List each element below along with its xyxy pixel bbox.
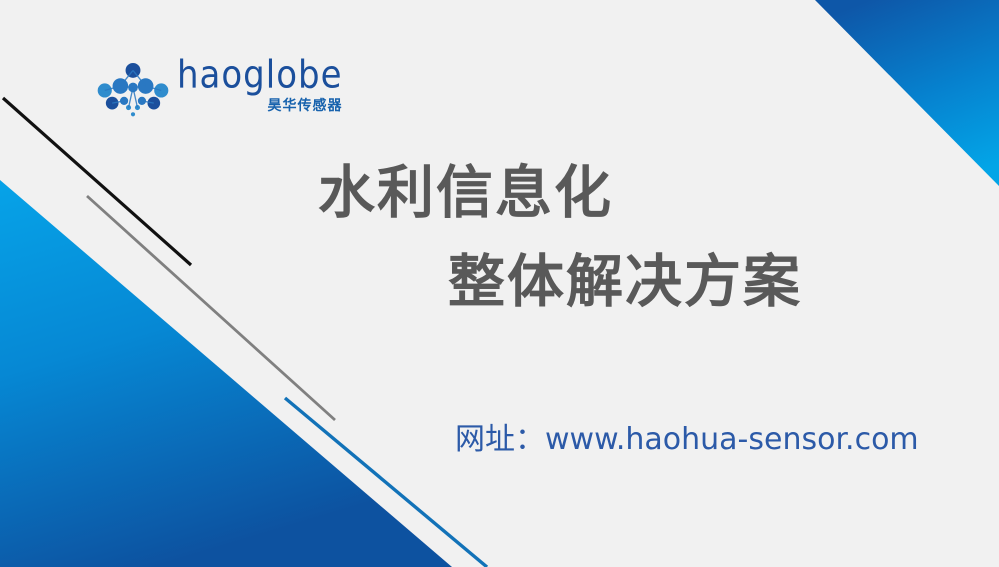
slide-title: 水利信息化 整体解决方案 xyxy=(0,160,999,315)
website-url[interactable]: www.haohua-sensor.com xyxy=(545,422,919,457)
website-line: 网址：www.haohua-sensor.com xyxy=(455,421,919,459)
title-line-2: 整体解决方案 xyxy=(0,249,999,315)
slide-canvas: haoglobe 昊华传感器 水利信息化 整体解决方案 网址：www.haohu… xyxy=(0,0,999,567)
top-right-blue-triangle xyxy=(815,0,999,186)
logo-wordmark: haoglobe xyxy=(177,56,343,94)
title-line-1: 水利信息化 xyxy=(0,160,999,226)
website-label: 网址： xyxy=(455,422,545,457)
haoglobe-dots-cluster-logo-icon xyxy=(97,60,169,118)
logo-subtitle: 昊华传感器 xyxy=(268,99,343,114)
company-logo: haoglobe 昊华传感器 xyxy=(97,56,343,124)
